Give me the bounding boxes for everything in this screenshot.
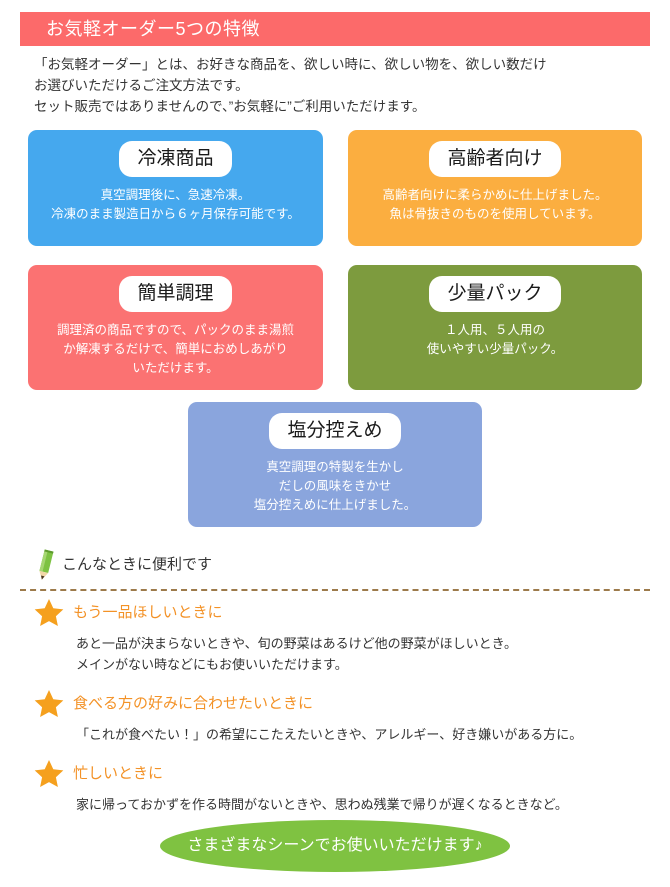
tip-header: 忙しいときに (34, 759, 648, 787)
feature-card-low-salt: 塩分控えめ 真空調理の特製を生かし だしの風味をきかせ 塩分控えめに仕上げました… (188, 402, 482, 527)
tip-body: 「これが食べたい！」の希望にこたえたいときや、アレルギー、好き嫌いがある方に。 (76, 724, 648, 745)
dashed-divider (20, 589, 650, 591)
tip-body: 家に帰っておかずを作る時間がないときや、思わぬ残業で帰りが遅くなるときなど。 (76, 794, 648, 815)
list-item: もう一品ほしいときに あと一品が決まらないときや、旬の野菜はあるけど他の野菜がほ… (34, 598, 648, 675)
tip-header: もう一品ほしいときに (34, 598, 648, 626)
tip-body: あと一品が決まらないときや、旬の野菜はあるけど他の野菜がほしいとき。 メインがな… (76, 633, 648, 675)
feature-card-easy-cooking: 簡単調理 調理済の商品ですので、パックのまま湯煎 か解凍するだけで、簡単におめし… (28, 265, 323, 390)
feature-card-label: 高齢者向け (429, 141, 560, 177)
feature-desc-line: 魚は骨抜きのものを使用しています。 (348, 205, 642, 224)
tip-title: 食べる方の好みに合わせたいときに (73, 696, 313, 711)
feature-card-label: 塩分控えめ (269, 413, 400, 449)
star-icon (34, 759, 64, 788)
feature-card-small-pack: 少量パック １人用、５人用の 使いやすい少量パック。 (348, 265, 642, 390)
tip-body-line: あと一品が決まらないときや、旬の野菜はあるけど他の野菜がほしいとき。 (76, 633, 648, 654)
feature-card-label: 簡単調理 (119, 276, 231, 312)
feature-desc-line: だしの風味をきかせ (188, 477, 482, 496)
feature-desc-line: １人用、５人用の (348, 321, 642, 340)
feature-card-description: 真空調理の特製を生かし だしの風味をきかせ 塩分控えめに仕上げました。 (188, 458, 482, 515)
feature-desc-line: 使いやすい少量パック。 (348, 340, 642, 359)
convenient-section-label: こんなときに便利です (62, 557, 212, 574)
intro-paragraph: 「お気軽オーダー」とは、お好きな商品を、欲しい時に、欲しい物を、欲しい数だけ お… (34, 54, 644, 117)
feature-desc-line: 冷凍のまま製造日から６ヶ月保存可能です。 (28, 205, 323, 224)
feature-desc-line: 真空調理後に、急速冷凍。 (28, 186, 323, 205)
feature-card-label: 少量パック (429, 276, 560, 312)
tip-title: 忙しいときに (73, 766, 163, 781)
feature-desc-line: 高齢者向けに柔らかめに仕上げました。 (348, 186, 642, 205)
feature-card-elderly: 高齢者向け 高齢者向けに柔らかめに仕上げました。 魚は骨抜きのものを使用していま… (348, 130, 642, 246)
pencil-icon (34, 548, 56, 582)
list-item: 忙しいときに 家に帰っておかずを作る時間がないときや、思わぬ残業で帰りが遅くなる… (34, 759, 648, 815)
page-title: お気軽オーダー5つの特徴 (20, 20, 260, 38)
intro-line-1: 「お気軽オーダー」とは、お好きな商品を、欲しい時に、欲しい物を、欲しい数だけ (34, 54, 644, 75)
tip-header: 食べる方の好みに合わせたいときに (34, 689, 648, 717)
feature-desc-line: 塩分控えめに仕上げました。 (188, 496, 482, 515)
tip-body-line: メインがない時などにもお使いいただけます。 (76, 654, 648, 675)
convenient-section-heading: こんなときに便利です (34, 548, 212, 582)
feature-card-frozen: 冷凍商品 真空調理後に、急速冷凍。 冷凍のまま製造日から６ヶ月保存可能です。 (28, 130, 323, 246)
star-icon (34, 689, 64, 718)
feature-desc-line: いただけます。 (28, 359, 323, 378)
intro-line-2: お選びいただけるご注文方法です。 (34, 75, 644, 96)
tip-list: もう一品ほしいときに あと一品が決まらないときや、旬の野菜はあるけど他の野菜がほ… (34, 598, 648, 829)
tip-title: もう一品ほしいときに (73, 605, 223, 620)
feature-card-description: 高齢者向けに柔らかめに仕上げました。 魚は骨抜きのものを使用しています。 (348, 186, 642, 224)
page-header-bar: お気軽オーダー5つの特徴 (20, 12, 650, 46)
list-item: 食べる方の好みに合わせたいときに 「これが食べたい！」の希望にこたえたいときや、… (34, 689, 648, 745)
feature-desc-line: 調理済の商品ですので、パックのまま湯煎 (28, 321, 323, 340)
star-icon (34, 598, 64, 627)
tip-body-line: 「これが食べたい！」の希望にこたえたいときや、アレルギー、好き嫌いがある方に。 (76, 724, 648, 745)
footer-callout-label: さまざまなシーンでお使いいただけます♪ (187, 838, 482, 854)
footer-callout: さまざまなシーンでお使いいただけます♪ (160, 820, 510, 872)
tip-body-line: 家に帰っておかずを作る時間がないときや、思わぬ残業で帰りが遅くなるときなど。 (76, 794, 648, 815)
intro-line-3: セット販売ではありませんので、”お気軽に”ご利用いただけます。 (34, 96, 644, 117)
feature-card-label: 冷凍商品 (119, 141, 231, 177)
feature-card-description: 調理済の商品ですので、パックのまま湯煎 か解凍するだけで、簡単におめしあがり い… (28, 321, 323, 378)
feature-card-description: １人用、５人用の 使いやすい少量パック。 (348, 321, 642, 359)
feature-card-description: 真空調理後に、急速冷凍。 冷凍のまま製造日から６ヶ月保存可能です。 (28, 186, 323, 224)
feature-desc-line: か解凍するだけで、簡単におめしあがり (28, 340, 323, 359)
feature-desc-line: 真空調理の特製を生かし (188, 458, 482, 477)
